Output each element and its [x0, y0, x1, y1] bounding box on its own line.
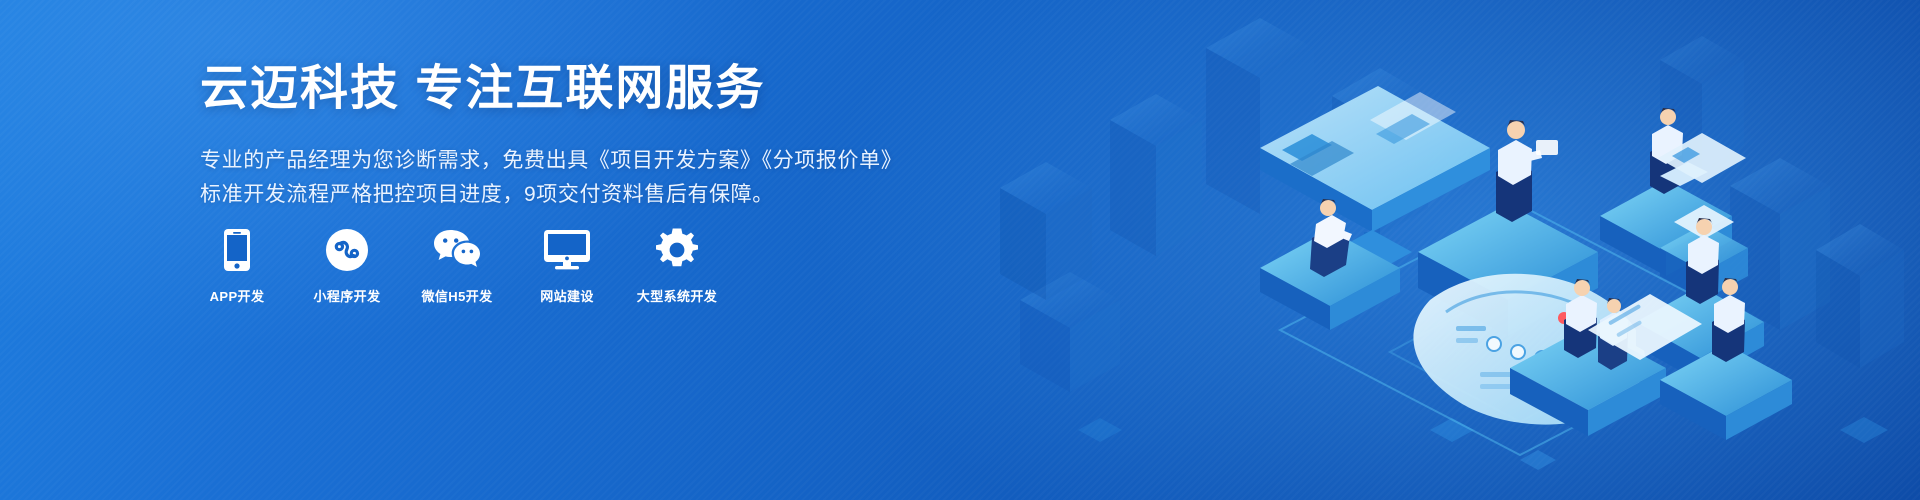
service-list: APP开发 小程序开发	[200, 228, 714, 305]
service-item-website[interactable]: 网站建设	[530, 228, 604, 305]
hero-banner: 云迈科技 专注互联网服务 专业的产品经理为您诊断需求，免费出具《项目开发方案》《…	[0, 0, 1920, 500]
subtitle-block: 专业的产品经理为您诊断需求，免费出具《项目开发方案》《分项报价单》 标准开发流程…	[200, 144, 900, 212]
service-item-app[interactable]: APP开发	[200, 228, 274, 305]
page-title: 云迈科技 专注互联网服务	[200, 62, 900, 116]
gear-icon	[655, 228, 699, 272]
service-label: APP开发	[210, 286, 265, 305]
wechat-icon	[433, 228, 481, 272]
person-center	[1496, 120, 1558, 222]
subtitle-line-2: 标准开发流程严格把控项目进度，9项交付资料售后有保障。	[200, 178, 900, 212]
illustration-svg	[960, 0, 1920, 500]
service-label: 网站建设	[540, 286, 594, 305]
mini-program-icon	[326, 228, 368, 272]
hero-copy: 云迈科技 专注互联网服务 专业的产品经理为您诊断需求，免费出具《项目开发方案》《…	[200, 62, 900, 212]
isometric-illustration	[960, 0, 1920, 500]
service-label: 小程序开发	[313, 286, 380, 305]
service-item-large-system[interactable]: 大型系统开发	[640, 228, 714, 305]
service-item-wechat-h5[interactable]: 微信H5开发	[420, 228, 494, 305]
service-label: 大型系统开发	[637, 286, 717, 305]
service-label: 微信H5开发	[421, 286, 492, 305]
mobile-phone-icon	[224, 228, 250, 272]
subtitle-line-1: 专业的产品经理为您诊断需求，免费出具《项目开发方案》《分项报价单》	[200, 144, 900, 178]
monitor-icon	[544, 228, 590, 272]
service-item-miniprogram[interactable]: 小程序开发	[310, 228, 384, 305]
